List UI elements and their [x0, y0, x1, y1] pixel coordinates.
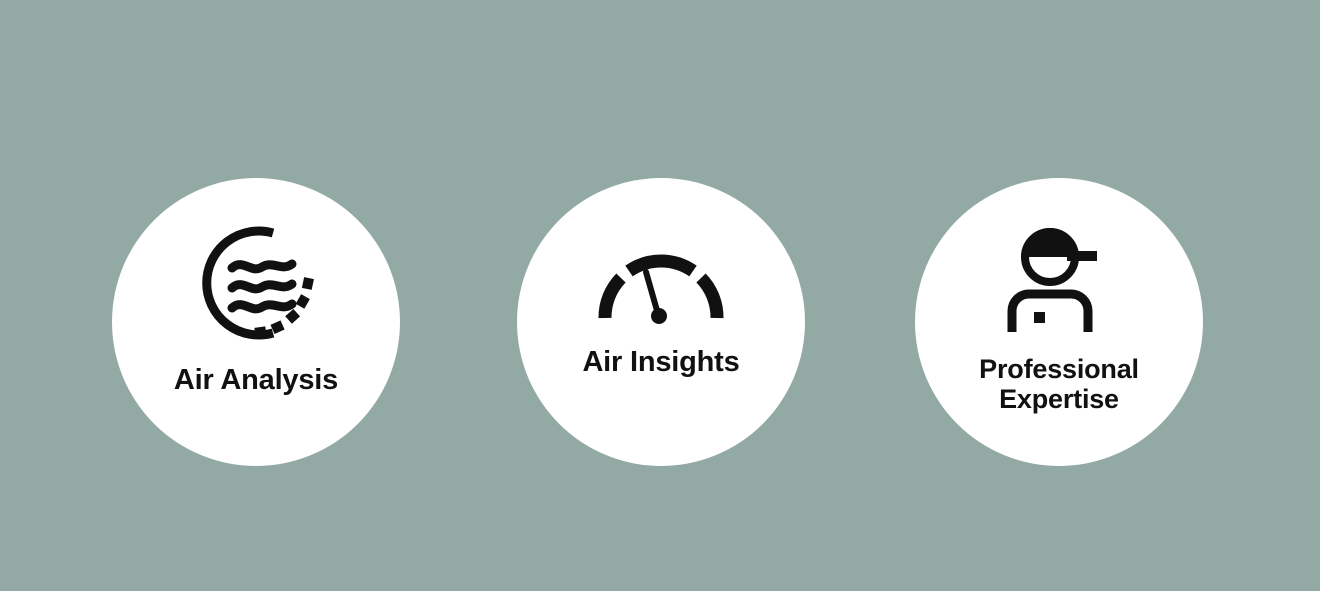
feature-card-professional-expertise[interactable]: Professional Expertise	[915, 178, 1203, 466]
person-with-cap-icon	[1004, 228, 1114, 336]
feature-card-label: Professional Expertise	[939, 354, 1179, 414]
feature-card-air-analysis[interactable]: Air Analysis	[112, 178, 400, 466]
feature-card-label: Air Insights	[541, 346, 781, 378]
feature-card-air-insights[interactable]: Air Insights	[517, 178, 805, 466]
feature-card-label: Air Analysis	[136, 364, 376, 396]
air-analysis-icon	[191, 222, 321, 344]
feature-circles-banner: Air Analysis Air Insights	[0, 0, 1320, 591]
gauge-icon	[595, 246, 727, 324]
